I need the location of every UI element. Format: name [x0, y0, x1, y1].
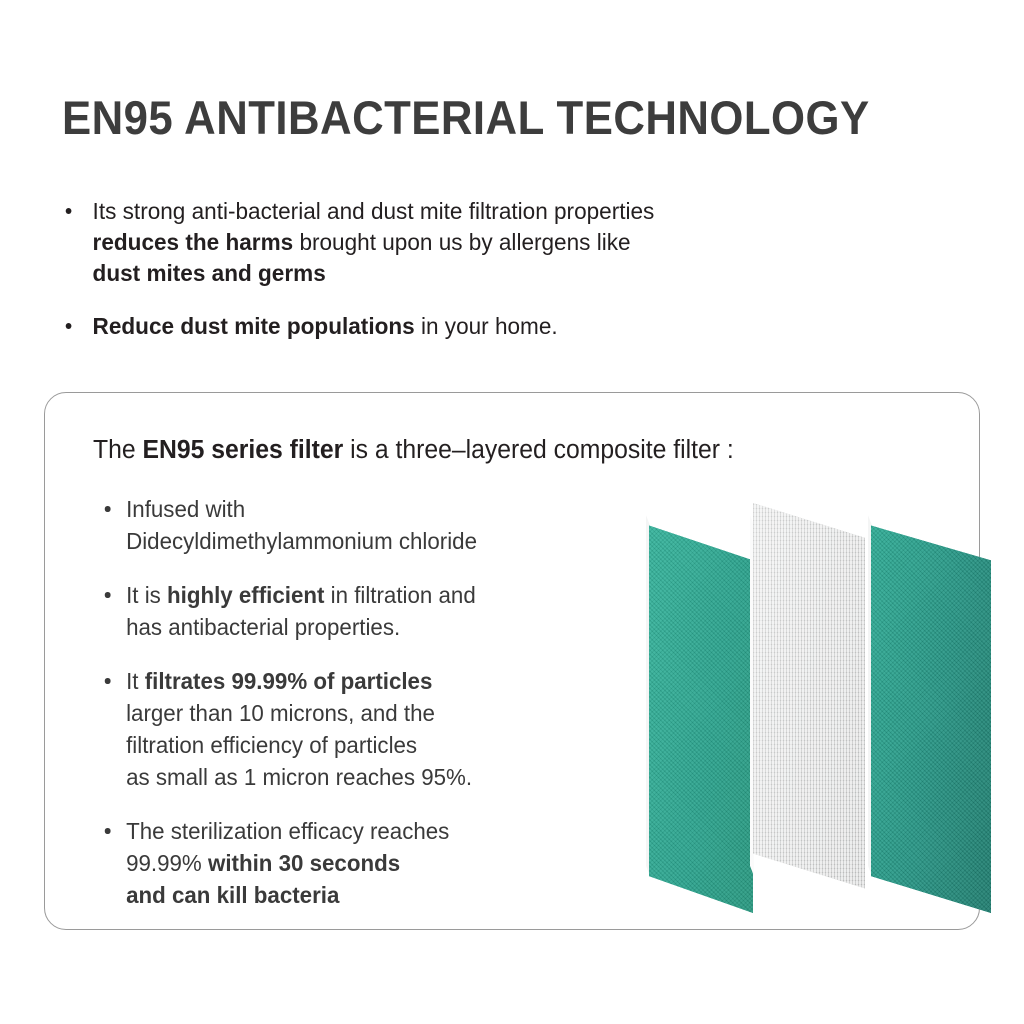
intro-bullet-list: Its strong anti-bacterial and dust mite … [58, 196, 958, 364]
list-item-line: It is highly efficient in filtration and [126, 579, 601, 611]
list-item-line: has antibacterial properties. [126, 611, 601, 643]
list-item-line: reduces the harms brought upon us by all… [93, 227, 922, 258]
list-item-line: Its strong anti-bacterial and dust mite … [93, 196, 922, 227]
list-item-line: Didecyldimethylammonium chloride [126, 525, 601, 557]
list-item: It filtrates 99.99% of particleslarger t… [97, 665, 601, 793]
text-run: as small as 1 micron reaches 95%. [126, 764, 472, 790]
layer-face [649, 503, 753, 913]
filter-info-card: The EN95 series filter is a three–layere… [44, 392, 980, 930]
list-item: Reduce dust mite populations in your hom… [58, 311, 922, 342]
outer-antibacterial-layer [649, 503, 753, 913]
text-run: Didecyldimethylammonium chloride [126, 528, 477, 554]
text-run: larger than 10 microns, and the [126, 700, 435, 726]
text-run: It [126, 668, 145, 694]
text-run: EN95 series filter [143, 436, 344, 464]
text-run: It is [126, 582, 167, 608]
bullet-dot-icon [66, 208, 72, 214]
text-run: The [93, 436, 143, 464]
text-run: reduces the harms [93, 229, 294, 255]
text-run: has antibacterial properties. [126, 614, 400, 640]
text-run: filtrates 99.99% of particles [145, 668, 433, 694]
text-run: is a three–layered composite filter : [343, 436, 733, 464]
text-run: within 30 seconds [208, 850, 400, 876]
text-run: highly efficient [167, 582, 324, 608]
bullet-dot-icon [105, 828, 110, 834]
bullet-dot-icon [105, 678, 110, 684]
list-item-line: larger than 10 microns, and the [126, 697, 601, 729]
text-run: brought upon us by allergens like [293, 229, 630, 255]
bullet-dot-icon [105, 592, 110, 598]
text-run: Infused with [126, 496, 245, 522]
inner-antibacterial-layer [871, 503, 991, 913]
bullet-dot-icon [105, 506, 110, 512]
text-run: Reduce dust mite populations [93, 313, 415, 339]
list-item: It is highly efficient in filtration and… [97, 579, 601, 643]
list-item-line: filtration efficiency of particles [126, 729, 601, 761]
list-item-line: and can kill bacteria [126, 879, 601, 911]
list-item-line: It filtrates 99.99% of particles [126, 665, 601, 697]
list-item-line: Infused with [126, 493, 601, 525]
list-item: Its strong anti-bacterial and dust mite … [58, 196, 922, 289]
list-item-line: The sterilization efficacy reaches [126, 815, 601, 847]
text-run: The sterilization efficacy reaches [126, 818, 449, 844]
middle-filtration-layer [753, 503, 865, 913]
list-item: Infused withDidecyldimethylammonium chlo… [97, 493, 601, 557]
card-bullet-list: Infused withDidecyldimethylammonium chlo… [97, 493, 617, 933]
three-layer-filter-diagram [601, 503, 1001, 913]
text-run: dust mites and germs [93, 260, 326, 286]
list-item-line: 99.99% within 30 seconds [126, 847, 601, 879]
layer-face [753, 503, 865, 913]
text-run: 99.99% [126, 850, 208, 876]
page-title: EN95 ANTIBACTERIAL TECHNOLOGY [62, 90, 870, 146]
list-item-line: dust mites and germs [93, 258, 922, 289]
bullet-dot-icon [66, 323, 72, 329]
text-run: in filtration and [324, 582, 475, 608]
text-run: filtration efficiency of particles [126, 732, 417, 758]
card-heading: The EN95 series filter is a three–layere… [93, 433, 734, 467]
list-item-line: as small as 1 micron reaches 95%. [126, 761, 601, 793]
text-run: and can kill bacteria [126, 882, 339, 908]
list-item: The sterilization efficacy reaches99.99%… [97, 815, 601, 911]
text-run: Its strong anti-bacterial and dust mite … [93, 198, 655, 224]
text-run: in your home. [415, 313, 558, 339]
list-item-line: Reduce dust mite populations in your hom… [93, 311, 922, 342]
layer-face [871, 503, 991, 913]
